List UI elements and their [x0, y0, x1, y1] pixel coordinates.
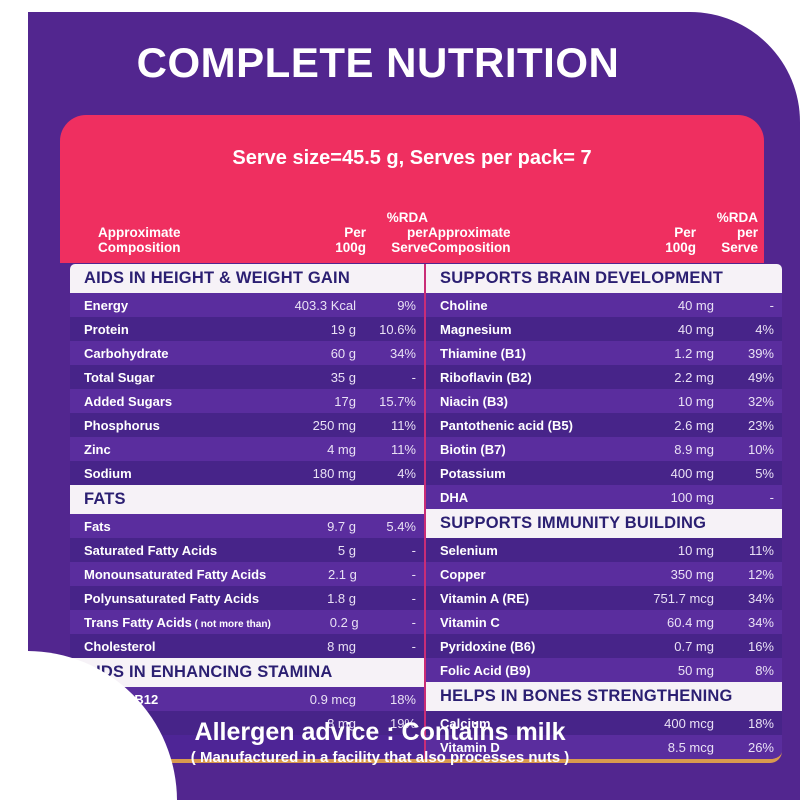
table-row: Trans Fatty Acids ( not more than)0.2 g- [70, 610, 424, 634]
table-row: Fats9.7 g5.4% [70, 514, 424, 538]
nutrient-name: Trans Fatty Acids ( not more than) [84, 615, 271, 630]
nutrient-rda-per-serve: 34% [356, 346, 416, 361]
nutrient-name: Magnesium [440, 322, 622, 337]
nutrient-name: Copper [440, 567, 622, 582]
table-section-header: SUPPORTS BRAIN DEVELOPMENT [426, 264, 782, 293]
nutrient-rda-per-serve: - [714, 298, 774, 313]
table-row: Copper350 mg12% [426, 562, 782, 586]
nutrient-name: Thiamine (B1) [440, 346, 622, 361]
nutrient-rda-per-serve: 5% [714, 466, 774, 481]
table-row: Cholesterol8 mg- [70, 634, 424, 658]
page-title: COMPLETE NUTRITION [28, 42, 728, 84]
nutrient-name: Cholesterol [84, 639, 264, 654]
column-headers-right: Approximate Composition Per 100g %RDA pe… [428, 210, 758, 255]
nutrient-per-100g: 60.4 mg [622, 615, 714, 630]
table-row: Energy403.3 Kcal9% [70, 293, 424, 317]
nutrient-name: Total Sugar [84, 370, 264, 385]
nutrition-table-column-left: AIDS IN HEIGHT & WEIGHT GAINEnergy403.3 … [70, 264, 426, 759]
nutrient-rda-per-serve: 11% [356, 442, 416, 457]
nutrient-rda-per-serve: 5.4% [356, 519, 416, 534]
table-row: Pyridoxine (B6)0.7 mg16% [426, 634, 782, 658]
table-row: Thiamine (B1)1.2 mg39% [426, 341, 782, 365]
nutrient-rda-per-serve: 12% [714, 567, 774, 582]
nutrient-name: Pantothenic acid (B5) [440, 418, 622, 433]
nutrient-name: Potassium [440, 466, 622, 481]
nutrient-per-100g: 40 mg [622, 322, 714, 337]
nutrient-name: Energy [84, 298, 264, 313]
table-row: Riboflavin (B2)2.2 mg49% [426, 365, 782, 389]
column-header-per-left: Per 100g [282, 225, 366, 255]
nutrient-rda-per-serve: 4% [356, 466, 416, 481]
table-row: Zinc4 mg11% [70, 437, 424, 461]
nutrient-per-100g: 0.9 mcg [264, 692, 356, 707]
nutrient-rda-per-serve: 10% [714, 442, 774, 457]
nutrient-per-100g: 2.2 mg [622, 370, 714, 385]
nutrient-per-100g: 8.9 mg [622, 442, 714, 457]
nutrient-per-100g: 1.2 mg [622, 346, 714, 361]
nutrient-rda-per-serve: 39% [714, 346, 774, 361]
table-row: Saturated Fatty Acids5 g- [70, 538, 424, 562]
nutrient-rda-per-serve: 16% [714, 639, 774, 654]
allergen-facility-note: ( Manufactured in a facility that also p… [28, 749, 732, 766]
table-row: Magnesium40 mg4% [426, 317, 782, 341]
nutrient-per-100g: 1.8 g [264, 591, 356, 606]
nutrient-rda-per-serve: - [356, 543, 416, 558]
column-header-rda-right: %RDA per Serve [696, 210, 758, 255]
serving-info-card: Serve size=45.5 g, Serves per pack= 7 Ap… [60, 115, 764, 263]
serve-size-text: Serve size=45.5 g, Serves per pack= 7 [60, 147, 764, 170]
nutrient-rda-per-serve: - [356, 639, 416, 654]
column-headers-left: Approximate Composition Per 100g %RDA pe… [98, 210, 428, 255]
table-row: Selenium10 mg11% [426, 538, 782, 562]
table-row: Phosphorus250 mg11% [70, 413, 424, 437]
nutrient-rda-per-serve: 8% [714, 663, 774, 678]
nutrient-name: Folic Acid (B9) [440, 663, 622, 678]
nutrient-rda-per-serve: - [356, 370, 416, 385]
nutrient-per-100g: 35 g [264, 370, 356, 385]
nutrient-rda-per-serve: 4% [714, 322, 774, 337]
nutrient-name: Saturated Fatty Acids [84, 543, 264, 558]
nutrient-name: Selenium [440, 543, 622, 558]
nutrient-name: Added Sugars [84, 394, 264, 409]
table-row: Added Sugars17g15.7% [70, 389, 424, 413]
nutrient-name: Niacin (B3) [440, 394, 622, 409]
nutrient-per-100g: 10 mg [622, 394, 714, 409]
nutrient-rda-per-serve: - [356, 591, 416, 606]
nutrient-per-100g: 60 g [264, 346, 356, 361]
nutrient-name: Biotin (B7) [440, 442, 622, 457]
allergen-footer: Allergen advice : Contains milk ( Manufa… [28, 718, 732, 766]
table-row: Folic Acid (B9)50 mg8% [426, 658, 782, 682]
nutrient-name: Polyunsaturated Fatty Acids [84, 591, 264, 606]
table-row: Total Sugar35 g- [70, 365, 424, 389]
table-section-header: AIDS IN ENHANCING STAMINA [70, 658, 424, 687]
nutrient-rda-per-serve: 11% [714, 543, 774, 558]
nutrient-rda-per-serve: 18% [356, 692, 416, 707]
column-header-name-left: Approximate Composition [98, 225, 282, 255]
column-header-rda-left: %RDA per Serve [366, 210, 428, 255]
nutrient-name: Pyridoxine (B6) [440, 639, 622, 654]
nutrient-name: Vitamin B12 [84, 692, 264, 707]
nutrient-name: Vitamin C [440, 615, 622, 630]
table-row: Sodium180 mg4% [70, 461, 424, 485]
nutrient-name: Fats [84, 519, 264, 534]
nutrient-per-100g: 2.1 g [266, 567, 357, 582]
nutrient-note: ( not more than) [192, 619, 271, 630]
nutrient-name: Choline [440, 298, 622, 313]
table-row: Choline40 mg- [426, 293, 782, 317]
nutrient-name: DHA [440, 490, 622, 505]
nutrient-rda-per-serve: 49% [714, 370, 774, 385]
nutrient-name: Monounsaturated Fatty Acids [84, 567, 266, 582]
nutrient-per-100g: 5 g [264, 543, 356, 558]
nutrient-per-100g: 40 mg [622, 298, 714, 313]
nutrient-name: Vitamin A (RE) [440, 591, 622, 606]
column-header-name-right: Approximate Composition [428, 225, 612, 255]
nutrient-per-100g: 751.7 mcg [622, 591, 714, 606]
nutrient-rda-per-serve: 10.6% [356, 322, 416, 337]
nutrient-per-100g: 180 mg [264, 466, 356, 481]
nutrient-per-100g: 403.3 Kcal [264, 298, 356, 313]
nutrient-per-100g: 17g [264, 394, 356, 409]
nutrient-name: Riboflavin (B2) [440, 370, 622, 385]
table-row: Polyunsaturated Fatty Acids1.8 g- [70, 586, 424, 610]
nutrition-table-column-right: SUPPORTS BRAIN DEVELOPMENTCholine40 mg-M… [426, 264, 782, 759]
nutrient-per-100g: 9.7 g [264, 519, 356, 534]
nutrient-per-100g: 100 mg [622, 490, 714, 505]
nutrient-name: Phosphorus [84, 418, 264, 433]
nutrient-per-100g: 50 mg [622, 663, 714, 678]
nutrient-per-100g: 4 mg [264, 442, 356, 457]
nutrient-rda-per-serve: - [359, 615, 416, 630]
table-row: Carbohydrate60 g34% [70, 341, 424, 365]
nutrient-per-100g: 400 mg [622, 466, 714, 481]
nutrient-per-100g: 350 mg [622, 567, 714, 582]
table-row: Vitamin A (RE)751.7 mcg34% [426, 586, 782, 610]
nutrient-rda-per-serve: 15.7% [356, 394, 416, 409]
nutrient-rda-per-serve: 11% [356, 418, 416, 433]
table-row: Vitamin B120.9 mcg18% [70, 687, 424, 711]
nutrient-name: Carbohydrate [84, 346, 264, 361]
nutrient-rda-per-serve: 9% [356, 298, 416, 313]
nutrient-per-100g: 0.7 mg [622, 639, 714, 654]
column-header-per-right: Per 100g [612, 225, 696, 255]
nutrient-name: Zinc [84, 442, 264, 457]
table-section-header: AIDS IN HEIGHT & WEIGHT GAIN [70, 264, 424, 293]
nutrient-rda-per-serve: 23% [714, 418, 774, 433]
nutrition-panel: COMPLETE NUTRITION Serve size=45.5 g, Se… [28, 12, 800, 800]
table-row: Potassium400 mg5% [426, 461, 782, 485]
nutrient-per-100g: 2.6 mg [622, 418, 714, 433]
nutrient-per-100g: 0.2 g [271, 615, 359, 630]
table-row: Biotin (B7)8.9 mg10% [426, 437, 782, 461]
table-row: Monounsaturated Fatty Acids2.1 g- [70, 562, 424, 586]
nutrient-per-100g: 250 mg [264, 418, 356, 433]
nutrient-per-100g: 10 mg [622, 543, 714, 558]
table-row: DHA100 mg- [426, 485, 782, 509]
table-row: Niacin (B3)10 mg32% [426, 389, 782, 413]
nutrient-name: Sodium [84, 466, 264, 481]
nutrient-rda-per-serve: 32% [714, 394, 774, 409]
nutrient-rda-per-serve: 34% [714, 591, 774, 606]
nutrition-table: AIDS IN HEIGHT & WEIGHT GAINEnergy403.3 … [70, 264, 782, 763]
table-row: Protein19 g10.6% [70, 317, 424, 341]
nutrient-rda-per-serve: 34% [714, 615, 774, 630]
nutrient-rda-per-serve: - [357, 567, 416, 582]
table-section-header: HELPS IN BONES STRENGTHENING [426, 682, 782, 711]
allergen-advice-text: Allergen advice : Contains milk [28, 718, 732, 746]
nutrient-name: Protein [84, 322, 264, 337]
table-section-header: SUPPORTS IMMUNITY BUILDING [426, 509, 782, 538]
nutrient-rda-per-serve: - [714, 490, 774, 505]
nutrient-per-100g: 19 g [264, 322, 356, 337]
table-row: Pantothenic acid (B5)2.6 mg23% [426, 413, 782, 437]
table-row: Vitamin C60.4 mg34% [426, 610, 782, 634]
nutrient-per-100g: 8 mg [264, 639, 356, 654]
table-section-header: FATS [70, 485, 424, 514]
